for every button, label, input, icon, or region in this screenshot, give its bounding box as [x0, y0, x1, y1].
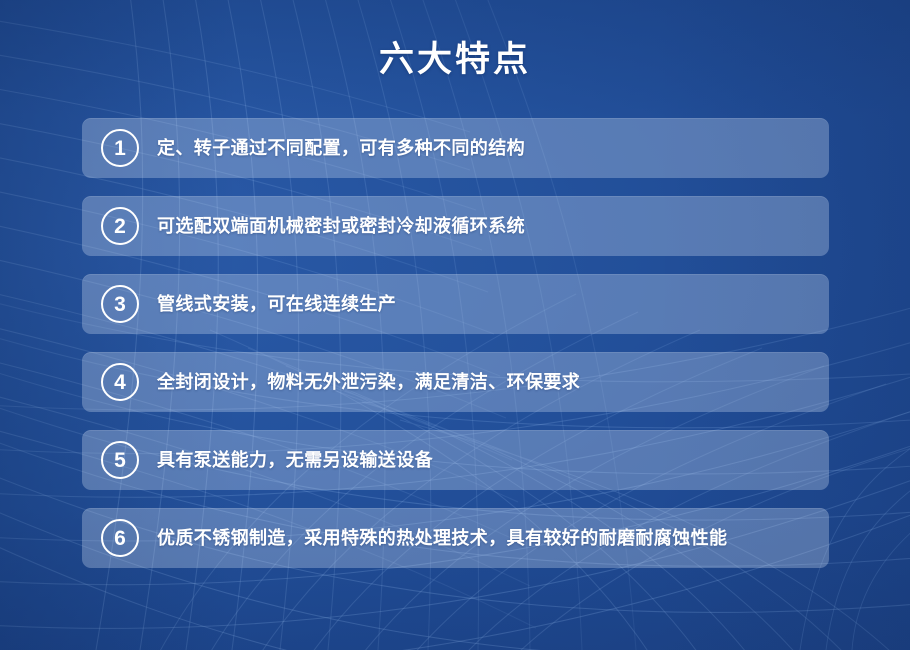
list-item: 2 可选配双端面机械密封或密封冷却液循环系统	[82, 196, 829, 256]
feature-number-badge: 4	[101, 363, 139, 401]
feature-text: 定、转子通过不同配置，可有多种不同的结构	[157, 136, 829, 160]
feature-text: 全封闭设计，物料无外泄污染，满足清洁、环保要求	[157, 370, 829, 394]
list-item: 4 全封闭设计，物料无外泄污染，满足清洁、环保要求	[82, 352, 829, 412]
feature-poster: 六大特点 1 定、转子通过不同配置，可有多种不同的结构 2 可选配双端面机械密封…	[0, 0, 910, 650]
list-item: 1 定、转子通过不同配置，可有多种不同的结构	[82, 118, 829, 178]
feature-text: 优质不锈钢制造，采用特殊的热处理技术，具有较好的耐磨耐腐蚀性能	[157, 526, 829, 550]
feature-text: 具有泵送能力，无需另设输送设备	[157, 448, 829, 472]
feature-number-badge: 5	[101, 441, 139, 479]
page-title: 六大特点	[0, 38, 910, 82]
list-item: 6 优质不锈钢制造，采用特殊的热处理技术，具有较好的耐磨耐腐蚀性能	[82, 508, 829, 568]
feature-list: 1 定、转子通过不同配置，可有多种不同的结构 2 可选配双端面机械密封或密封冷却…	[82, 118, 829, 568]
feature-number-badge: 2	[101, 207, 139, 245]
feature-number-badge: 1	[101, 129, 139, 167]
list-item: 3 管线式安装，可在线连续生产	[82, 274, 829, 334]
feature-number-badge: 3	[101, 285, 139, 323]
feature-text: 管线式安装，可在线连续生产	[157, 292, 829, 316]
list-item: 5 具有泵送能力，无需另设输送设备	[82, 430, 829, 490]
feature-text: 可选配双端面机械密封或密封冷却液循环系统	[157, 214, 829, 238]
feature-number-badge: 6	[101, 519, 139, 557]
poster-content: 六大特点 1 定、转子通过不同配置，可有多种不同的结构 2 可选配双端面机械密封…	[0, 0, 910, 650]
